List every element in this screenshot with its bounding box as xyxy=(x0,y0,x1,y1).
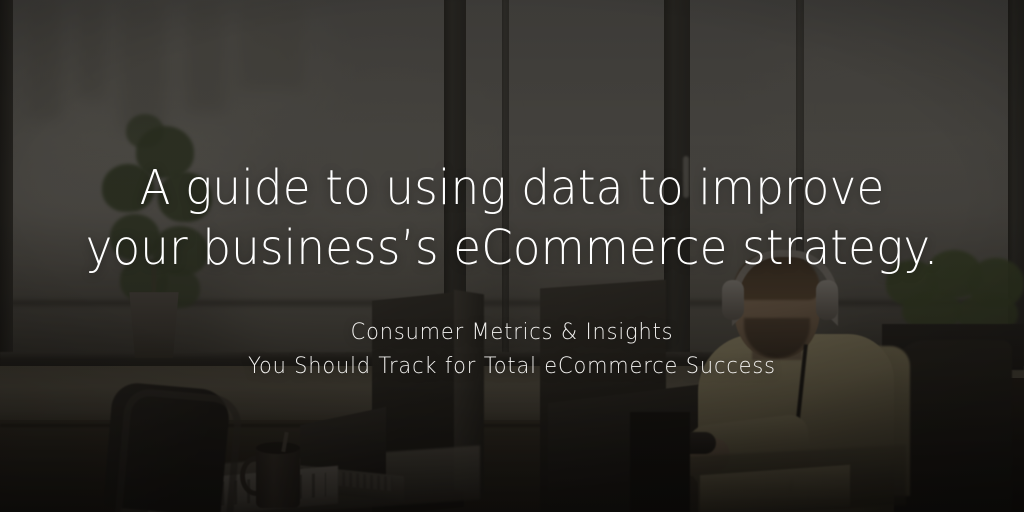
headphone-earcup xyxy=(816,280,838,320)
plant-pot xyxy=(126,292,182,358)
office-chair-left-frame xyxy=(114,387,243,512)
mug-rim xyxy=(256,442,300,454)
door-handle xyxy=(683,156,689,198)
plant-leaf-cluster xyxy=(158,172,212,222)
outdoor-building-blur xyxy=(78,0,106,100)
potted-plant-left xyxy=(96,110,212,358)
headphone-earcup xyxy=(722,280,744,320)
outdoor-building-blur xyxy=(28,0,62,120)
outdoor-building-blur xyxy=(186,0,226,112)
coffee-mug xyxy=(256,446,300,508)
outdoor-building-blur xyxy=(238,0,304,90)
background-photo xyxy=(0,0,1024,512)
plant-leaf-cluster xyxy=(102,164,154,212)
hero-banner: A guide to using data to improve your bu… xyxy=(0,0,1024,512)
monitor-edge-right xyxy=(630,412,690,512)
window-mullion xyxy=(502,0,509,366)
window-mullion xyxy=(0,0,13,366)
